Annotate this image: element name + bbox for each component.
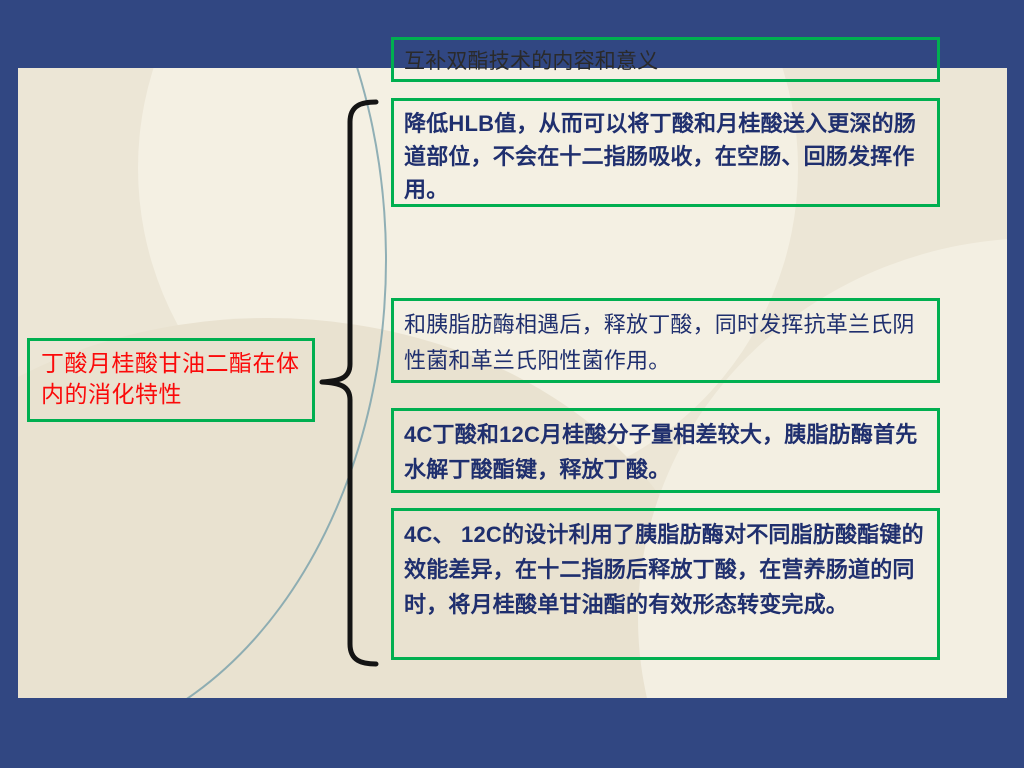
branch-box-3[interactable]: 和胰脂肪酶相遇后，释放丁酸，同时发挥抗革兰氏阴性菌和革兰氏阳性菌作用。 [391,298,940,383]
branch-box-1[interactable]: 互补双酯技术的内容和意义 [391,37,940,82]
branch-label-4: 4C丁酸和12C月桂酸分子量相差较大，胰脂肪酶首先水解丁酸酯键，释放丁酸。 [404,417,929,487]
slide-canvas: 丁酸月桂酸甘油二酯在体内的消化特性 互补双酯技术的内容和意义 降低HLB值，从而… [0,0,1024,768]
branch-box-4[interactable]: 4C丁酸和12C月桂酸分子量相差较大，胰脂肪酶首先水解丁酸酯键，释放丁酸。 [391,408,940,493]
branch-box-5[interactable]: 4C、 12C的设计利用了胰脂肪酶对不同脂肪酸酯键的效能差异，在十二指肠后释放丁… [391,508,940,660]
source-concept-label: 丁酸月桂酸甘油二酯在体内的消化特性 [41,348,303,410]
source-concept-box[interactable]: 丁酸月桂酸甘油二酯在体内的消化特性 [27,338,315,422]
branch-label-2: 降低HLB值，从而可以将丁酸和月桂酸送入更深的肠道部位，不会在十二指肠吸收，在空… [404,107,929,206]
branch-box-2[interactable]: 降低HLB值，从而可以将丁酸和月桂酸送入更深的肠道部位，不会在十二指肠吸收，在空… [391,98,940,207]
branch-label-3: 和胰脂肪酶相遇后，释放丁酸，同时发挥抗革兰氏阴性菌和革兰氏阳性菌作用。 [404,307,929,379]
branch-label-1: 互补双酯技术的内容和意义 [404,46,929,76]
branch-label-5: 4C、 12C的设计利用了胰脂肪酶对不同脂肪酸酯键的效能差异，在十二指肠后释放丁… [404,517,929,622]
